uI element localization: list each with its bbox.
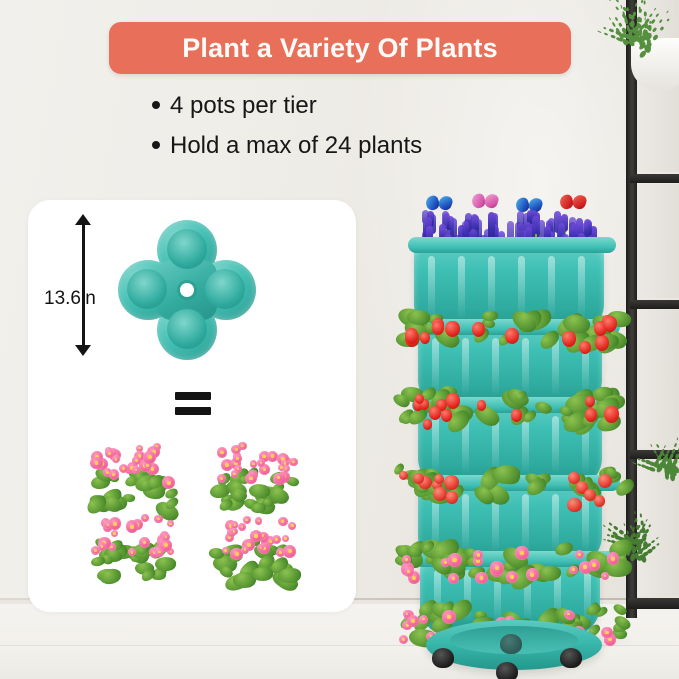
fern-leaflet <box>611 22 615 27</box>
tower-flower <box>526 568 539 581</box>
caster-wheel <box>560 648 582 668</box>
fern-leaflet <box>618 22 623 28</box>
fern-leaflet <box>676 437 679 441</box>
tomato-fruit <box>434 474 444 484</box>
fern-leaflet <box>631 527 635 532</box>
strawberry-fruit <box>511 409 522 422</box>
fern-leaflet <box>651 539 656 543</box>
tower-flower <box>442 610 456 624</box>
page-title: Plant a Variety Of Plants <box>182 33 498 64</box>
strawberry-fruit <box>420 332 430 344</box>
cluster-flower <box>257 459 265 467</box>
fern-leaflet <box>608 17 611 21</box>
tower-flower <box>601 627 612 638</box>
strawberry-fruit <box>595 335 609 351</box>
fern-leaflet <box>659 18 664 23</box>
planter-pot-cavity <box>167 309 207 349</box>
fern-leaflet <box>609 28 614 33</box>
fern-leaflet <box>673 443 677 448</box>
stackable-planter-tower <box>404 196 624 648</box>
tower-flower <box>607 552 620 565</box>
tower-flower <box>404 567 414 577</box>
caster-wheel <box>500 634 522 654</box>
fern-leaflet <box>623 18 627 24</box>
cluster-flower <box>283 465 290 472</box>
fern-leaflet <box>649 12 654 17</box>
shelf-rail <box>630 174 679 183</box>
fern-plant-lower-icon <box>636 430 679 510</box>
cluster-flower <box>119 464 128 473</box>
tower-leaf <box>538 565 562 581</box>
planter-center-hole <box>180 283 194 297</box>
cluster-flower <box>143 451 156 464</box>
fern-leaflet <box>649 444 652 448</box>
fern-leaflet <box>603 26 607 29</box>
planter-pot-cavity <box>167 229 207 269</box>
tower-flower <box>399 635 408 644</box>
fern-leaflet <box>608 0 611 2</box>
title-banner: Plant a Variety Of Plants <box>109 22 571 74</box>
cluster-flower <box>250 460 257 467</box>
planter-top-view <box>118 220 256 360</box>
dimension-label: 13.6in <box>44 288 96 310</box>
tower-flower <box>448 553 462 567</box>
planter-pot-cavity <box>205 269 245 309</box>
feature-label: 4 pots per tier <box>170 92 317 120</box>
caster-wheel <box>496 662 518 679</box>
fern-leaflet <box>637 463 642 467</box>
flower-cluster <box>85 440 181 508</box>
strawberry-fruit <box>562 331 576 347</box>
dimension-line <box>82 222 85 346</box>
cluster-flower <box>231 470 239 478</box>
cluster-flower <box>278 517 287 526</box>
fern-leaflet <box>614 17 618 21</box>
shelf-rail <box>630 300 679 309</box>
tomato-fruit <box>446 491 458 503</box>
cluster-flower <box>288 522 296 530</box>
cluster-flower <box>162 533 170 541</box>
equals-sign-icon <box>175 392 211 415</box>
shelf-panel <box>637 310 679 448</box>
feature-list: 4 pots per tier Hold a max of 24 plants <box>152 92 572 172</box>
cluster-flower <box>238 442 246 450</box>
cluster-flower <box>141 514 149 522</box>
fern-plant-icon <box>596 0 679 96</box>
cluster-flower <box>126 520 138 532</box>
bullet-dot-icon <box>152 101 160 109</box>
fern-leaflet <box>632 11 636 17</box>
cluster-flower <box>139 537 150 548</box>
tower-leaf <box>482 310 498 321</box>
strawberry-fruit <box>441 409 452 421</box>
fern-leaflet <box>651 19 656 24</box>
strawberry-fruit <box>603 316 617 332</box>
cluster-flower <box>155 548 164 557</box>
fern-leaflet <box>653 34 659 41</box>
cluster-flower <box>238 523 246 531</box>
flower-cluster <box>85 512 181 580</box>
cluster-flower <box>112 455 120 463</box>
caster-wheel <box>432 648 454 668</box>
strawberry-fruit <box>446 393 460 409</box>
tomato-fruit <box>444 475 459 490</box>
strawberry-fruit <box>579 341 590 354</box>
tower-flower <box>515 546 528 559</box>
fern-leaflet <box>656 13 660 17</box>
fern-leaflet <box>598 30 602 33</box>
fern-leaflet <box>666 10 669 14</box>
tower-leaf <box>554 541 574 556</box>
strawberry-fruit <box>429 406 441 419</box>
infographic-canvas: Plant a Variety Of Plants 4 pots per tie… <box>0 0 679 679</box>
feature-item-2: Hold a max of 24 plants <box>152 132 572 160</box>
flower-cluster <box>207 512 303 580</box>
shelf-panel <box>637 184 679 298</box>
strawberry-fruit <box>472 322 485 337</box>
cluster-flower <box>241 546 249 554</box>
planter-pot-cavity <box>127 269 167 309</box>
cluster-flower <box>90 457 102 469</box>
feature-item-1: 4 pots per tier <box>152 92 572 120</box>
shelf-rail <box>628 598 679 609</box>
fern-leaflet <box>629 534 633 540</box>
strawberry-fruit <box>585 396 595 407</box>
strawberry-fruit <box>445 321 459 338</box>
tower-flower <box>402 555 411 564</box>
fern-leaflet <box>667 18 671 22</box>
cluster-flower <box>243 516 251 524</box>
strawberry-fruit <box>477 400 486 410</box>
fern-leaflet <box>640 514 643 518</box>
fern-leaflet <box>656 536 660 539</box>
cluster-flower <box>111 530 119 538</box>
fern-leaflet <box>653 7 656 11</box>
strawberry-fruit <box>423 419 433 430</box>
fern-leaflet <box>672 458 679 466</box>
tower-flower <box>569 566 578 575</box>
fern-leaflet <box>664 445 667 449</box>
tower-flower <box>448 573 459 584</box>
cluster-flower <box>217 447 227 457</box>
tomato-fruit <box>399 471 408 480</box>
cluster-flower <box>283 545 295 557</box>
tower-foliage <box>404 196 624 648</box>
fern-leaflet <box>643 1 645 5</box>
cluster-flower <box>289 458 297 466</box>
cluster-flower <box>98 542 106 550</box>
tomato-fruit <box>598 474 613 489</box>
tower-flower <box>575 550 584 559</box>
tower-flower <box>564 610 573 619</box>
fern-leaflet <box>660 26 665 31</box>
cluster-flower <box>282 535 289 542</box>
fern-leaflet <box>670 448 675 454</box>
fern-leaflet <box>634 2 637 7</box>
cluster-flower <box>230 528 237 535</box>
tower-flower <box>419 615 428 624</box>
tower-flower <box>601 572 609 580</box>
bullet-dot-icon <box>152 141 160 149</box>
fern-leaflet <box>656 542 660 546</box>
tomato-fruit <box>567 498 582 513</box>
fern-leaflet <box>644 12 647 17</box>
fern-leaflet <box>656 444 660 448</box>
strawberry-fruit <box>432 321 444 335</box>
fern-leaflet <box>604 32 609 36</box>
flower-cluster <box>207 440 303 508</box>
strawberry-fruit <box>585 408 597 422</box>
dimension-arrow-down-icon <box>75 345 91 356</box>
cluster-flower <box>132 466 139 473</box>
fern-leaflet <box>645 519 648 523</box>
strawberry-fruit <box>604 406 619 423</box>
tower-flower <box>490 561 503 574</box>
cluster-flower <box>109 469 119 479</box>
tower-leaf <box>534 399 554 416</box>
equals-bar <box>175 392 211 400</box>
cluster-leaf <box>91 557 106 568</box>
fern-leaflet <box>652 26 658 32</box>
fern-leaflet <box>615 6 620 11</box>
cluster-flower <box>128 548 136 556</box>
cluster-flower <box>255 517 262 524</box>
cluster-flower <box>109 517 121 529</box>
cluster-flower <box>167 520 174 527</box>
tomato-fruit <box>584 489 596 501</box>
equals-bar <box>175 407 211 415</box>
tower-flower <box>475 572 487 584</box>
fern-leaflet <box>626 7 629 11</box>
tower-flower <box>506 571 518 583</box>
fern-leaflet <box>648 524 652 528</box>
cluster-flower <box>154 515 163 524</box>
fern-leaflet <box>634 511 636 514</box>
tower-flower <box>589 559 601 571</box>
cluster-flower <box>245 473 256 484</box>
feature-label: Hold a max of 24 plants <box>170 132 422 160</box>
tomato-fruit <box>433 487 447 501</box>
fern-leaflet <box>616 0 620 3</box>
strawberry-fruit <box>505 328 519 345</box>
